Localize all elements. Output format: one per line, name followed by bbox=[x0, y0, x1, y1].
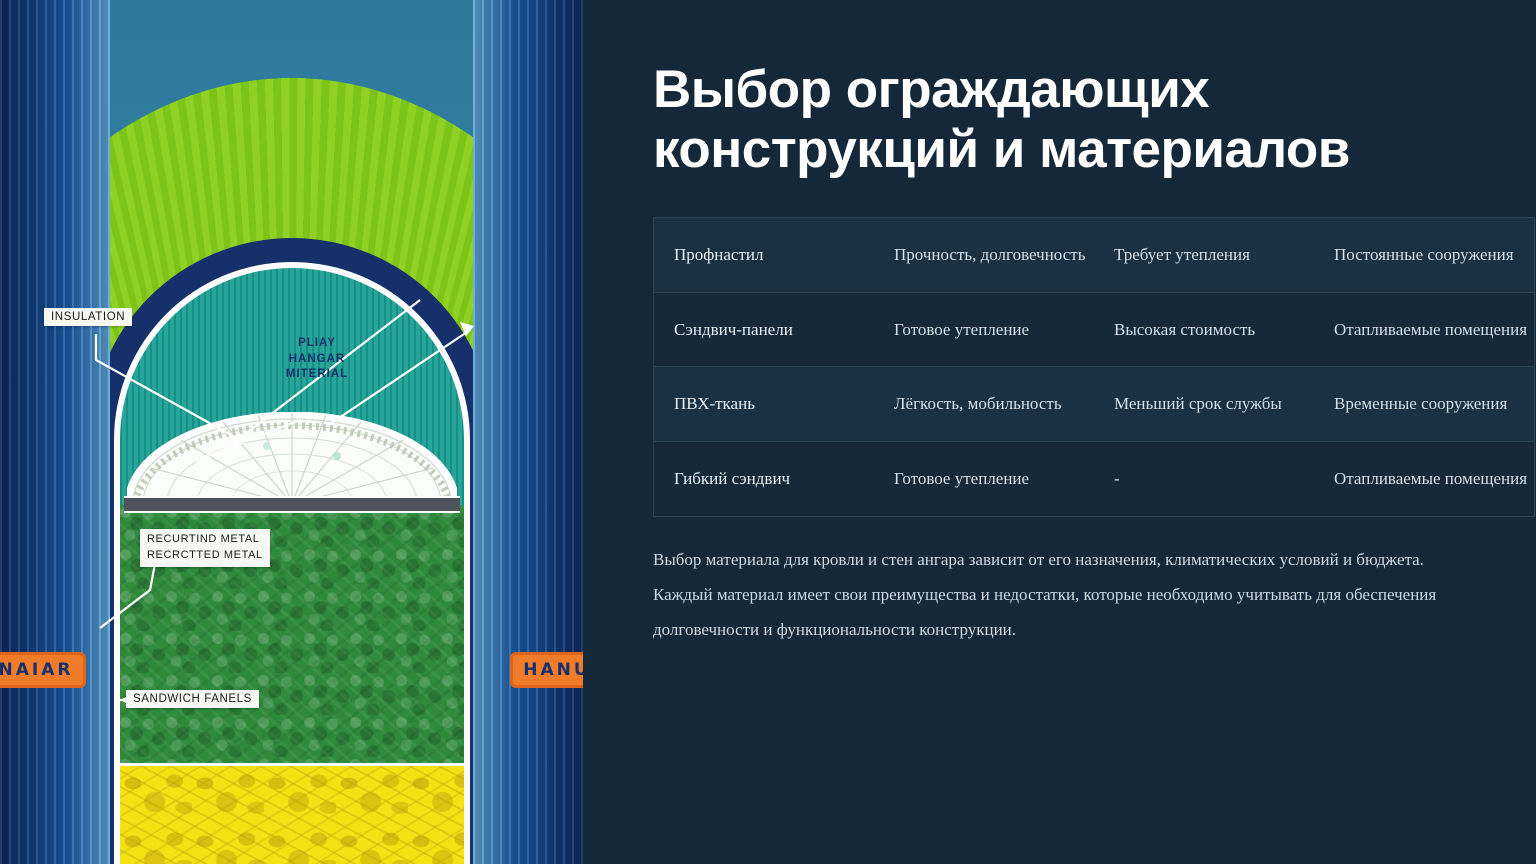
cell-disadvantage: Требует утепления bbox=[1094, 217, 1314, 292]
hangar-center-label: PLIAY HANGAR MITERIAL bbox=[258, 336, 376, 383]
cell-disadvantage: Высокая стоимость bbox=[1094, 292, 1314, 367]
summary-note: Выбор материала для кровли и стен ангара… bbox=[653, 543, 1458, 648]
inner-dome-graphic bbox=[127, 412, 457, 504]
cell-disadvantage: Меньший срок службы bbox=[1094, 367, 1314, 442]
cell-application: Постоянные сооружения bbox=[1314, 217, 1535, 292]
materials-comparison-table: Профнастил Прочность, долговечность Треб… bbox=[653, 217, 1535, 517]
cell-application: Отапливаемые помещения bbox=[1314, 442, 1535, 517]
content-panel: Выбор ограждающих конструкций и материал… bbox=[583, 0, 1536, 864]
cell-disadvantage: - bbox=[1094, 442, 1314, 517]
banner-left: NAIAR bbox=[0, 652, 86, 688]
cell-application: Временные сооружения bbox=[1314, 367, 1535, 442]
table-row: Гибкий сэндвич Готовое утепление - Отапл… bbox=[654, 442, 1535, 517]
banner-right: HANU bbox=[510, 652, 583, 688]
left-striped-column bbox=[0, 0, 110, 864]
callout-recycled-metal: RECURTIND METAL RECRCTTED METAL bbox=[140, 529, 270, 567]
callout-insulation: INSULATION bbox=[44, 308, 132, 326]
cell-material: Профнастил bbox=[654, 217, 875, 292]
hangar-line-1: PLIAY bbox=[298, 337, 336, 349]
callout-recycled-metal-line2: RECRCTTED METAL bbox=[147, 549, 263, 561]
hangar-cross-section-illustration: PLIAY HANGAR MITERIAL INSULATION RECURTI… bbox=[0, 0, 583, 864]
right-striped-column bbox=[473, 0, 583, 864]
table-row: Сэндвич-панели Готовое утепление Высокая… bbox=[654, 292, 1535, 367]
callout-recycled-metal-line1: RECURTIND METAL bbox=[147, 533, 260, 545]
callout-sandwich-panels: SANDWICH FANELS bbox=[126, 690, 259, 708]
cell-material: Сэндвич-панели bbox=[654, 292, 875, 367]
cell-advantage: Лёгкость, мобильность bbox=[874, 367, 1094, 442]
slide-root: PLIAY HANGAR MITERIAL INSULATION RECURTI… bbox=[0, 0, 1536, 864]
cell-application: Отапливаемые помещения bbox=[1314, 292, 1535, 367]
hangar-line-3: MITERIAL bbox=[286, 368, 348, 380]
cell-advantage: Прочность, долговечность bbox=[874, 217, 1094, 292]
cell-advantage: Готовое утепление bbox=[874, 442, 1094, 517]
dome-base-bar bbox=[124, 496, 460, 513]
hangar-line-2: HANGAR bbox=[289, 353, 345, 365]
cell-advantage: Готовое утепление bbox=[874, 292, 1094, 367]
table-row: ПВХ-ткань Лёгкость, мобильность Меньший … bbox=[654, 367, 1535, 442]
yellow-ornate-band bbox=[120, 763, 464, 864]
cell-material: Гибкий сэндвич bbox=[654, 442, 875, 517]
table-row: Профнастил Прочность, долговечность Треб… bbox=[654, 217, 1535, 292]
cell-material: ПВХ-ткань bbox=[654, 367, 875, 442]
page-title: Выбор ограждающих конструкций и материал… bbox=[653, 0, 1353, 181]
